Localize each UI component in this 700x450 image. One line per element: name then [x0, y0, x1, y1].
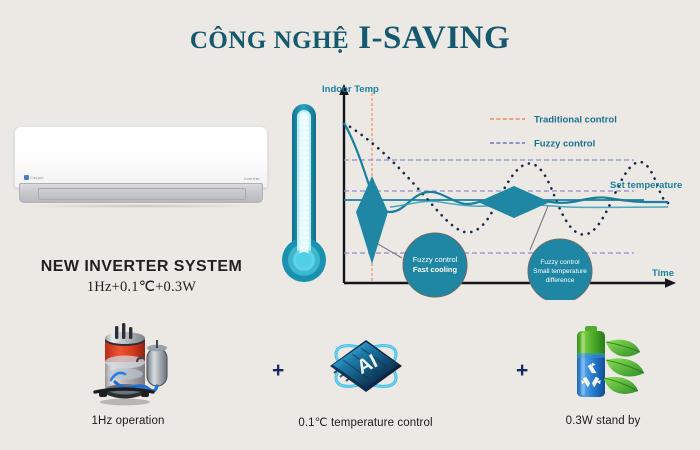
series-traditional-control	[344, 123, 668, 235]
inverter-heading: NEW INVERTER SYSTEM	[0, 258, 283, 276]
page-title-highlight: I-SAVING	[358, 20, 510, 56]
thermometer-icon	[282, 104, 326, 282]
ac-shadow	[22, 204, 260, 208]
page-title-prefix: CÔNG NGHỆ	[190, 27, 349, 54]
ac-louver-vane	[38, 188, 246, 200]
eco-battery-icon	[556, 322, 650, 406]
ac-badge: inverter	[244, 176, 260, 181]
callout-2-line1: Fuzzy control	[540, 259, 580, 266]
callout-fast-cooling[interactable]: Fuzzy control Fast cooling	[403, 233, 467, 297]
leaf-group	[604, 340, 644, 394]
temperature-control-chart: Fuzzy control Fast cooling Fuzzy control…	[282, 78, 700, 300]
air-conditioner-image: Casper inverter	[14, 126, 268, 206]
infographic-root: CÔNG NGHỆI-SAVING Casper inverter NEW IN…	[0, 0, 700, 450]
chart-svg: Fuzzy control Fast cooling Fuzzy control…	[282, 78, 700, 300]
feature-ai-chip-caption: 0.1℃ temperature control	[288, 415, 443, 429]
ac-brand-logo: Casper	[24, 175, 44, 180]
x-axis-label: Time	[652, 268, 674, 279]
feature-compressor-caption: 1Hz operation	[63, 415, 193, 427]
plus-separator-2: +	[516, 359, 528, 383]
callout-2-line2: Small temperature	[533, 268, 587, 275]
plus-separator-1: +	[272, 359, 284, 383]
callout-leader-1	[378, 244, 402, 258]
legend-item-fuzzy-control: Fuzzy control	[534, 139, 595, 150]
brand-mark-icon	[24, 175, 29, 180]
inverter-subheading: 1Hz+0.1℃+0.3W	[0, 279, 283, 296]
callout-1-line1: Fuzzy control	[413, 255, 458, 264]
callout-small-difference[interactable]: Fuzzy control Small temperature differen…	[528, 239, 592, 300]
chart-legend: Traditional control Fuzzy control	[490, 115, 617, 150]
ac-louver	[19, 183, 263, 203]
feature-eco-battery: 0.3W stand by	[533, 322, 673, 427]
compressor-icon	[85, 322, 171, 406]
callout-2-line3: difference	[546, 277, 575, 284]
page-title: CÔNG NGHỆI-SAVING	[0, 20, 700, 57]
feature-ai-chip: AI 0.1℃ temperature control	[288, 330, 443, 429]
legend-item-traditional-control: Traditional control	[534, 115, 617, 126]
brand-name: Casper	[30, 175, 44, 180]
set-temperature-label: Set temperature	[610, 180, 682, 191]
y-axis-label: Indoor Temp	[322, 84, 379, 95]
feature-eco-battery-caption: 0.3W stand by	[533, 415, 673, 427]
ai-chip-icon: AI	[316, 330, 416, 406]
callout-1-line2: Fast cooling	[413, 265, 458, 274]
feature-compressor: 1Hz operation	[63, 322, 193, 427]
ac-front-panel	[14, 126, 268, 188]
diamond-fast-cooling-marker	[356, 176, 388, 264]
